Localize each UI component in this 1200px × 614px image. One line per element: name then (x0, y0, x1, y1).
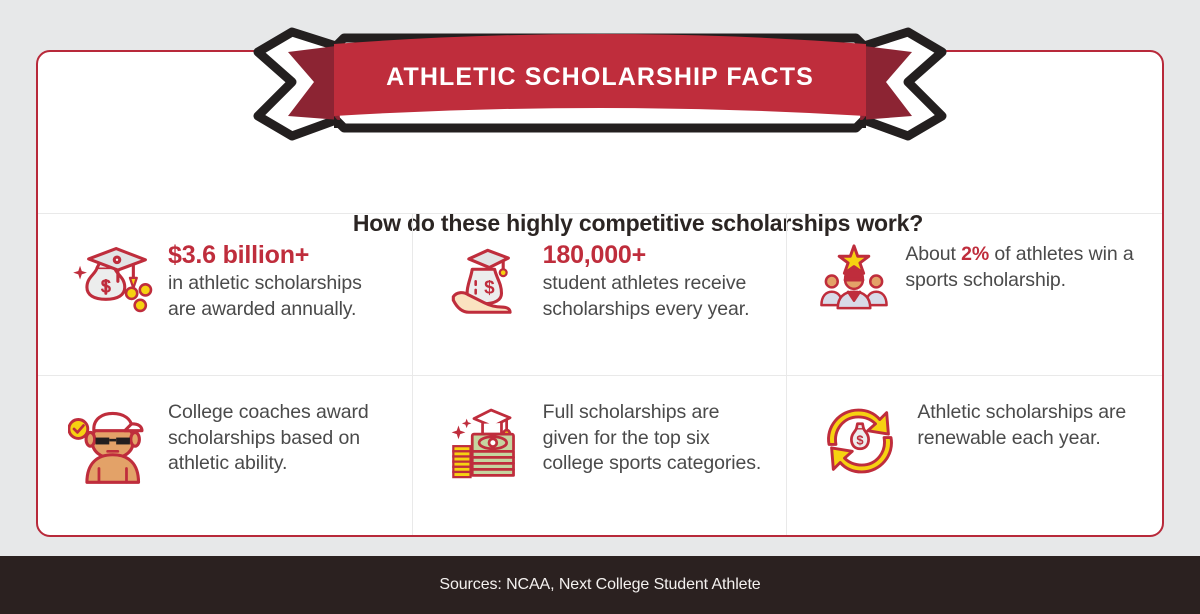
fact-desc-prefix: About (905, 243, 961, 265)
renewal-arrows-money-bag-icon: $ (817, 398, 903, 484)
fact-stat: $3.6 billion+ (168, 242, 392, 269)
fact-item-full-scholarships: Full scholarships are given for the top … (413, 376, 788, 537)
fact-item-coaches-award: College coaches award scholarships based… (38, 376, 413, 537)
svg-text:$: $ (484, 277, 495, 298)
fact-desc-text: College coaches award scholarships based… (168, 401, 369, 474)
title-ribbon: ATHLETIC SCHOLARSHIP FACTS (248, 24, 952, 142)
fact-text: 180,000+ student athletes receive schola… (543, 240, 767, 322)
fact-item-scholarship-dollars: $ $3.6 billion+ in athletic scholarships… (38, 214, 413, 376)
fact-desc-highlight: 2% (961, 243, 989, 265)
fact-desc-text: student athletes receive scholarships ev… (543, 272, 750, 320)
fact-text: College coaches award scholarships based… (168, 398, 392, 477)
fact-desc-text: in athletic scholarships are awarded ann… (168, 272, 362, 320)
cash-stack-graduation-cap-icon (443, 398, 529, 484)
svg-text:$: $ (857, 432, 864, 447)
three-athletes-star-icon (817, 240, 891, 314)
fact-description: in athletic scholarships are awarded ann… (168, 271, 392, 322)
fact-stat: 180,000+ (543, 242, 767, 269)
coach-checkmark-icon (68, 398, 154, 484)
fact-text: Full scholarships are given for the top … (543, 398, 767, 477)
fact-description: About 2% of athletes win a sports schola… (905, 242, 1142, 293)
fact-desc-text: Athletic scholarships are renewable each… (917, 401, 1126, 449)
fact-item-two-percent: About 2% of athletes win a sports schola… (787, 214, 1162, 376)
footer-sources: Sources: NCAA, Next College Student Athl… (439, 576, 760, 594)
fact-description: student athletes receive scholarships ev… (543, 271, 767, 322)
facts-grid: $ $3.6 billion+ in athletic scholarships… (38, 213, 1162, 537)
fact-description: Athletic scholarships are renewable each… (917, 400, 1142, 451)
fact-text: $3.6 billion+ in athletic scholarships a… (168, 240, 392, 322)
fact-item-student-athletes: $ 180,000+ student athletes receive scho… (413, 214, 788, 376)
fact-item-renewable: $ Athletic scholarships are renewable ea… (787, 376, 1162, 537)
fact-text: Athletic scholarships are renewable each… (917, 398, 1142, 451)
fact-desc-text: Full scholarships are given for the top … (543, 401, 762, 474)
fact-description: Full scholarships are given for the top … (543, 400, 767, 477)
fact-text: About 2% of athletes win a sports schola… (905, 240, 1142, 293)
svg-text:$: $ (101, 276, 112, 297)
hand-holding-money-bag-icon: $ (443, 240, 529, 326)
graduation-cap-money-bag-icon: $ (68, 240, 154, 326)
footer-bar: Sources: NCAA, Next College Student Athl… (0, 556, 1200, 614)
infographic-page: How do these highly competitive scholars… (0, 0, 1200, 614)
fact-description: College coaches award scholarships based… (168, 400, 392, 477)
ribbon-title: ATHLETIC SCHOLARSHIP FACTS (248, 24, 952, 142)
